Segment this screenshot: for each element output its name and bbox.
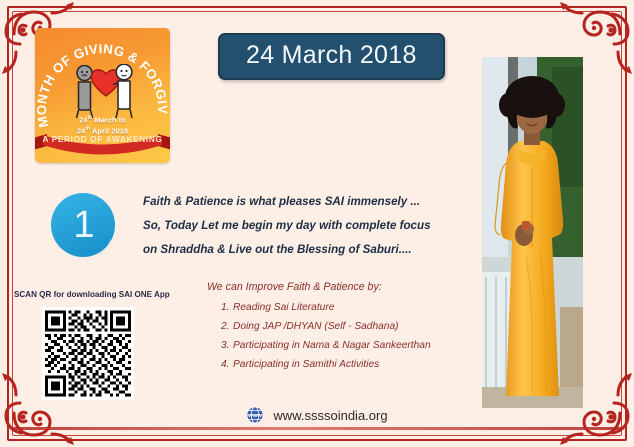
- quote-line-2: So, Today Let me begin my day with compl…: [143, 214, 473, 238]
- poster-canvas: MONTH OF GIVING & FORGIVING: [0, 0, 634, 447]
- quote-line-1: Faith & Patience is what pleases SAI imm…: [143, 190, 473, 214]
- white-person-icon: [113, 64, 135, 119]
- www-globe-icon: WWW: [246, 406, 264, 424]
- month-of-giving-forgiving-logo: MONTH OF GIVING & FORGIVING: [35, 28, 170, 163]
- date-banner: 24 March 2018: [218, 33, 445, 80]
- list-item: 4. Participating in Samithi Activities: [207, 355, 497, 374]
- sathya-sai-baba-photo: [482, 57, 583, 408]
- date-banner-label: 24 March 2018: [246, 41, 417, 69]
- footer-url[interactable]: www.ssssoindia.org: [273, 408, 387, 423]
- list-item-number: 2.: [207, 317, 233, 336]
- list-item: 3. Participating in Nama & Nagar Sankeer…: [207, 336, 497, 355]
- list-item: 2. Doing JAP /DHYAN (Self - Sadhana): [207, 317, 497, 336]
- footer: WWW www.ssssoindia.org: [0, 406, 634, 424]
- list-item: 1. Reading Sai Literature: [207, 298, 497, 317]
- list-item-number: 3.: [207, 336, 233, 355]
- list-item-number: 4.: [207, 355, 233, 374]
- list-item-label: Doing JAP /DHYAN (Self - Sadhana): [233, 317, 497, 336]
- improve-section: We can Improve Faith & Patience by: 1. R…: [207, 281, 497, 374]
- list-item-number: 1.: [207, 298, 233, 317]
- qr-caption: SCAN QR for downloading SAI ONE App: [14, 290, 179, 299]
- list-item-label: Participating in Nama & Nagar Sankeertha…: [233, 336, 497, 355]
- improve-heading: We can Improve Faith & Patience by:: [207, 281, 497, 293]
- ribbon-label: A PERIOD OF AWAKENING: [35, 135, 170, 144]
- improve-list: 1. Reading Sai Literature 2. Doing JAP /…: [207, 298, 497, 374]
- quote-line-3: on Shraddha & Live out the Blessing of S…: [143, 238, 473, 262]
- day-number-sticker: 1: [49, 192, 119, 262]
- footer-divider: [13, 427, 621, 430]
- globe-www-label: WWW: [249, 413, 263, 419]
- sticker-number: 1: [49, 192, 119, 262]
- list-item-label: Participating in Samithi Activities: [233, 355, 497, 374]
- daily-quote: Faith & Patience is what pleases SAI imm…: [143, 190, 473, 262]
- list-item-label: Reading Sai Literature: [233, 298, 497, 317]
- qr-code-icon[interactable]: [42, 307, 134, 400]
